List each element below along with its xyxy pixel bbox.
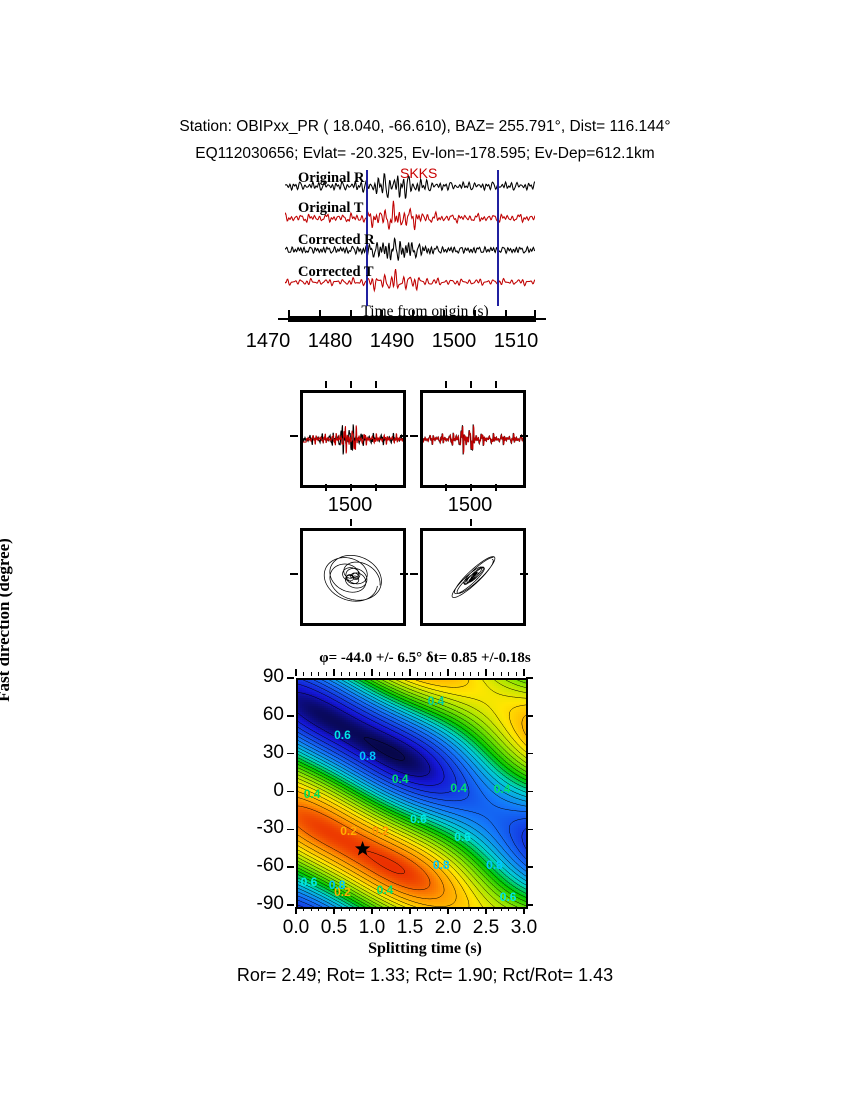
y-tick xyxy=(287,866,294,868)
x-tick xyxy=(409,907,411,914)
x-minor-tick xyxy=(463,907,464,911)
y-tick xyxy=(526,866,533,868)
contour-label: 0.8 xyxy=(433,858,450,872)
x-minor-tick xyxy=(356,672,357,676)
y-axis-title: Fast direction (degree) xyxy=(0,520,14,720)
x-minor-tick xyxy=(387,907,388,911)
x-minor-tick xyxy=(402,907,403,911)
contour-label: 0.4 xyxy=(494,782,511,796)
x-tick xyxy=(523,669,525,676)
y-tick-label-5: -60 xyxy=(224,855,284,877)
contour-label: 0.4 xyxy=(392,772,409,786)
x-tick xyxy=(447,907,449,914)
time-tick-1470: 1470 xyxy=(238,330,298,353)
trace-label-corrected-t: Corrected T xyxy=(298,264,374,281)
x-minor-tick xyxy=(402,672,403,676)
x-minor-tick xyxy=(463,672,464,676)
x-minor-tick xyxy=(311,907,312,911)
x-minor-tick xyxy=(478,907,479,911)
waveform-box-uncorrected xyxy=(300,390,406,488)
contour-label: 0.8 xyxy=(486,858,503,872)
x-minor-tick xyxy=(394,907,395,911)
time-tick-1480: 1480 xyxy=(300,330,360,353)
x-minor-tick xyxy=(440,672,441,676)
x-minor-tick xyxy=(417,672,418,676)
x-tick xyxy=(485,669,487,676)
y-tick-label-0: 90 xyxy=(224,666,284,688)
x-minor-tick xyxy=(516,907,517,911)
x-minor-tick xyxy=(455,672,456,676)
y-tick xyxy=(287,904,294,906)
x-minor-tick xyxy=(440,907,441,911)
x-minor-tick xyxy=(326,907,327,911)
y-tick xyxy=(526,753,533,755)
x-minor-tick xyxy=(432,672,433,676)
contour-label: 0.4 xyxy=(428,694,445,708)
x-tick xyxy=(333,907,335,914)
x-minor-tick xyxy=(508,907,509,911)
x-minor-tick xyxy=(516,672,517,676)
y-tick-label-3: 0 xyxy=(224,780,284,802)
y-tick-label-4: -30 xyxy=(224,817,284,839)
x-tick xyxy=(409,669,411,676)
x-minor-tick xyxy=(364,907,365,911)
x-minor-tick xyxy=(303,907,304,911)
x-minor-tick xyxy=(493,672,494,676)
x-tick xyxy=(447,669,449,676)
x-minor-tick xyxy=(501,907,502,911)
x-minor-tick xyxy=(318,672,319,676)
contour-label: 0.6 xyxy=(454,830,471,844)
trace-label-original-r: Original R xyxy=(298,170,364,187)
y-tick xyxy=(287,677,294,679)
x-minor-tick xyxy=(508,672,509,676)
contour-label: 0.4 xyxy=(450,781,467,795)
x-minor-tick xyxy=(349,907,350,911)
x-minor-tick xyxy=(425,672,426,676)
x-minor-tick xyxy=(501,672,502,676)
x-minor-tick xyxy=(349,672,350,676)
x-minor-tick xyxy=(303,672,304,676)
quality-metrics-footer: Ror= 2.49; Rot= 1.33; Rct= 1.90; Rct/Rot… xyxy=(0,965,850,986)
contour-label: 0.6 xyxy=(410,812,427,826)
x-minor-tick xyxy=(425,907,426,911)
y-tick-label-2: 30 xyxy=(224,742,284,764)
y-tick xyxy=(526,904,533,906)
waveform-box-corrected xyxy=(420,390,526,488)
x-minor-tick xyxy=(394,672,395,676)
time-tick-1500: 1500 xyxy=(424,330,484,353)
x-minor-tick xyxy=(356,907,357,911)
x-minor-tick xyxy=(417,907,418,911)
contour-label: 0.2 xyxy=(340,824,357,838)
splitting-result-title: φ= -44.0 +/- 6.5° δt= 0.85 +/-0.18s xyxy=(0,650,850,667)
header-station-line: Station: OBIPxx_PR ( 18.040, -66.610), B… xyxy=(0,118,850,136)
time-tick-1490: 1490 xyxy=(362,330,422,353)
trace-label-corrected-r: Corrected R xyxy=(298,232,375,249)
x-minor-tick xyxy=(432,907,433,911)
x-tick xyxy=(295,907,297,914)
y-tick xyxy=(526,829,533,831)
x-tick-label-6: 3.0 xyxy=(494,917,554,939)
trace-label-original-t: Original T xyxy=(298,200,363,217)
contour-label: 0.6 xyxy=(334,728,351,742)
contour-label: 0.4 xyxy=(304,787,321,801)
y-tick xyxy=(526,677,533,679)
x-minor-tick xyxy=(379,907,380,911)
time-marker-end xyxy=(497,170,499,306)
waveform-box-tick-left: 1500 xyxy=(305,494,395,517)
y-tick-label-1: 60 xyxy=(224,704,284,726)
figure-page: Station: OBIPxx_PR ( 18.040, -66.610), B… xyxy=(0,0,850,1100)
x-minor-tick xyxy=(341,672,342,676)
header-event-line: EQ112030656; Evlat= -20.325, Ev-lon=-178… xyxy=(0,145,850,163)
waveform-box-tick-right: 1500 xyxy=(425,494,515,517)
y-tick xyxy=(287,829,294,831)
y-tick xyxy=(526,715,533,717)
phase-label-skks: SKKS xyxy=(400,165,437,181)
x-minor-tick xyxy=(326,672,327,676)
x-minor-tick xyxy=(478,672,479,676)
contour-label: 0.6 xyxy=(500,890,517,904)
contour-label: 0.6 xyxy=(301,875,318,889)
x-minor-tick xyxy=(371,672,372,676)
x-tick xyxy=(295,669,297,676)
x-axis-title: Splitting time (s) xyxy=(0,940,850,958)
x-tick xyxy=(523,907,525,914)
particle-motion-corrected xyxy=(420,528,526,626)
time-axis-title: Time from origin (s) xyxy=(0,303,850,321)
x-tick xyxy=(333,669,335,676)
x-minor-tick xyxy=(371,907,372,911)
x-tick xyxy=(485,907,487,914)
x-minor-tick xyxy=(470,907,471,911)
x-minor-tick xyxy=(318,907,319,911)
y-tick xyxy=(287,753,294,755)
contour-label: 0.4 xyxy=(377,883,394,897)
x-minor-tick xyxy=(493,907,494,911)
y-tick xyxy=(287,791,294,793)
x-minor-tick xyxy=(387,672,388,676)
y-tick xyxy=(526,791,533,793)
y-tick xyxy=(287,715,294,717)
particle-motion-uncorrected xyxy=(300,528,406,626)
x-minor-tick xyxy=(379,672,380,676)
contour-label: 0.8 xyxy=(329,878,346,892)
contour-label: 0.2 xyxy=(372,824,389,838)
contour-label: 0.8 xyxy=(359,749,376,763)
y-tick-label-6: -90 xyxy=(224,893,284,915)
x-minor-tick xyxy=(470,672,471,676)
time-tick-1510: 1510 xyxy=(486,330,546,353)
x-minor-tick xyxy=(311,672,312,676)
x-minor-tick xyxy=(455,907,456,911)
x-minor-tick xyxy=(364,672,365,676)
x-minor-tick xyxy=(341,907,342,911)
